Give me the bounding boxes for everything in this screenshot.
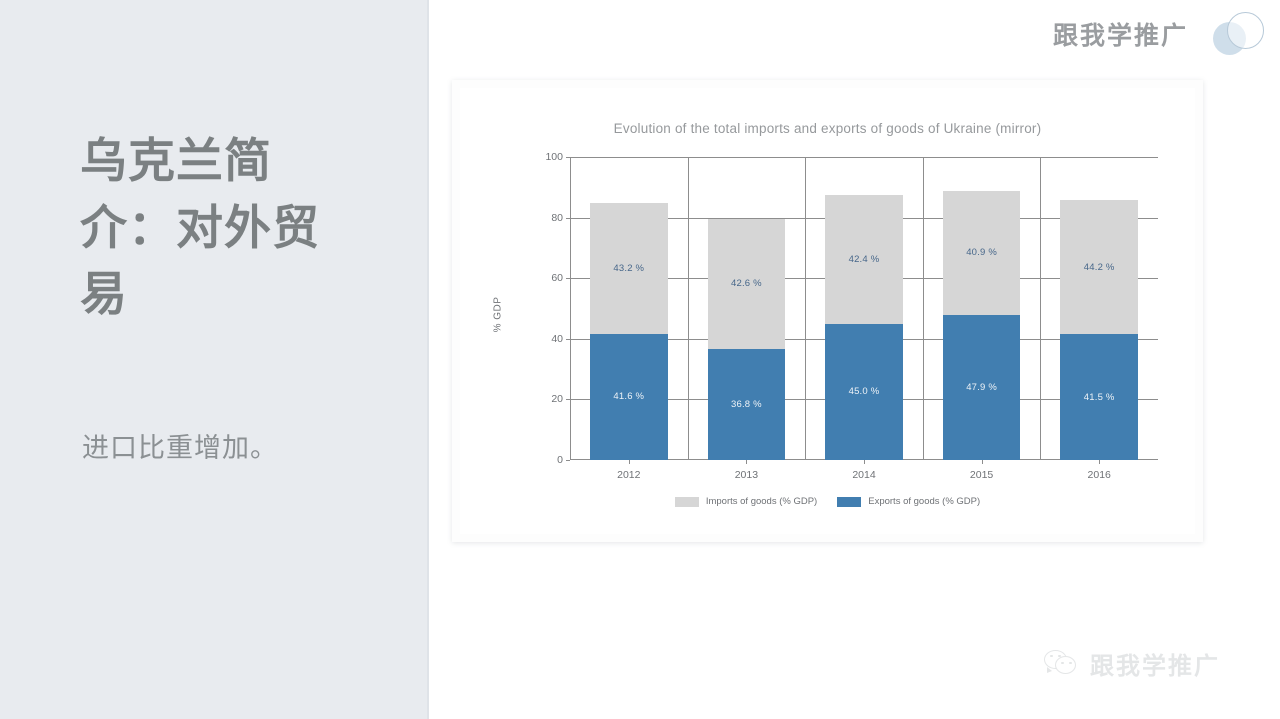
wechat-eye-4	[1069, 662, 1072, 665]
plot-area: % GDP 020406080100 41.6 %43.2 %201236.8 …	[570, 157, 1158, 460]
bar-segment-imports[interactable]: 42.4 %	[825, 195, 903, 323]
bar-segment-imports[interactable]: 44.2 %	[1060, 200, 1138, 334]
bar-value-label: 42.4 %	[849, 254, 880, 265]
y-tick-mark	[566, 460, 570, 461]
bar-value-label: 42.6 %	[731, 278, 762, 289]
chart-title: Evolution of the total imports and expor…	[460, 121, 1195, 136]
chart-canvas: Evolution of the total imports and expor…	[460, 88, 1195, 534]
page-subtitle: 进口比重增加。	[82, 430, 382, 468]
x-tick-label: 2015	[943, 469, 1021, 481]
x-tick-label: 2014	[825, 469, 903, 481]
wechat-eye-1	[1050, 655, 1053, 658]
bar-segment-exports[interactable]: 47.9 %	[943, 315, 1021, 460]
legend-swatch	[837, 497, 861, 507]
bar-segment-imports[interactable]: 40.9 %	[943, 191, 1021, 315]
x-tick-mark	[629, 460, 630, 464]
bar-group[interactable]: 41.6 %43.2 %2012	[590, 203, 668, 460]
x-tick-mark	[1099, 460, 1100, 464]
bar-segment-exports[interactable]: 45.0 %	[825, 324, 903, 460]
legend-label: Imports of goods (% GDP)	[706, 496, 817, 507]
y-tick-label: 0	[557, 454, 563, 466]
bar-group[interactable]: 45.0 %42.4 %2014	[825, 195, 903, 460]
bar-value-label: 44.2 %	[1084, 262, 1115, 273]
bar-value-label: 41.5 %	[1084, 392, 1115, 403]
bar-value-label: 40.9 %	[966, 247, 997, 258]
y-tick-label: 60	[551, 272, 563, 284]
watermark: 跟我学推广	[1044, 646, 1220, 681]
y-tick-label: 40	[551, 333, 563, 345]
wechat-icon	[1044, 650, 1080, 678]
y-tick-label: 80	[551, 212, 563, 224]
x-tick-label: 2016	[1060, 469, 1138, 481]
bar-value-label: 43.2 %	[613, 263, 644, 274]
bar-segment-imports[interactable]: 42.6 %	[708, 219, 786, 348]
brand-header: 跟我学推广	[1053, 8, 1266, 60]
bar-segment-exports[interactable]: 36.8 %	[708, 349, 786, 461]
x-tick-label: 2012	[590, 469, 668, 481]
brand-name: 跟我学推广	[1053, 16, 1188, 52]
bar-group[interactable]: 47.9 %40.9 %2015	[943, 191, 1021, 460]
wechat-eye-3	[1061, 662, 1064, 665]
logo-circle-outline	[1227, 12, 1264, 49]
y-tick-label: 100	[545, 151, 563, 163]
y-axis-label: % GDP	[493, 297, 504, 333]
bar-segment-imports[interactable]: 43.2 %	[590, 203, 668, 334]
wechat-eye-2	[1058, 655, 1061, 658]
bar-series-container: 41.6 %43.2 %201236.8 %42.6 %201345.0 %42…	[570, 157, 1158, 460]
x-tick-mark	[864, 460, 865, 464]
bar-value-label: 36.8 %	[731, 399, 762, 410]
bar-group[interactable]: 36.8 %42.6 %2013	[708, 219, 786, 460]
slide: 乌克兰简介：对外贸易 进口比重增加。 跟我学推广 Evolution of th…	[0, 0, 1280, 719]
bar-segment-exports[interactable]: 41.5 %	[1060, 334, 1138, 460]
overlapping-circles-logo-icon	[1210, 8, 1266, 60]
x-tick-label: 2013	[708, 469, 786, 481]
chart-legend: Imports of goods (% GDP)Exports of goods…	[460, 496, 1195, 507]
chart-card: Evolution of the total imports and expor…	[452, 80, 1203, 542]
wechat-bubble-small	[1055, 656, 1076, 674]
left-panel	[0, 0, 428, 719]
x-tick-mark	[982, 460, 983, 464]
legend-label: Exports of goods (% GDP)	[868, 496, 980, 507]
page-title: 乌克兰简介：对外贸易	[80, 128, 355, 328]
bar-segment-exports[interactable]: 41.6 %	[590, 334, 668, 460]
content-area: 跟我学推广 Evolution of the total imports and…	[429, 0, 1280, 719]
x-tick-mark	[746, 460, 747, 464]
bar-value-label: 47.9 %	[966, 382, 997, 393]
bar-value-label: 45.0 %	[849, 386, 880, 397]
bar-group[interactable]: 41.5 %44.2 %2016	[1060, 200, 1138, 460]
legend-item[interactable]: Exports of goods (% GDP)	[837, 496, 980, 507]
y-tick-label: 20	[551, 393, 563, 405]
legend-item[interactable]: Imports of goods (% GDP)	[675, 496, 817, 507]
legend-swatch	[675, 497, 699, 507]
bar-value-label: 41.6 %	[613, 391, 644, 402]
watermark-text: 跟我学推广	[1090, 646, 1220, 681]
